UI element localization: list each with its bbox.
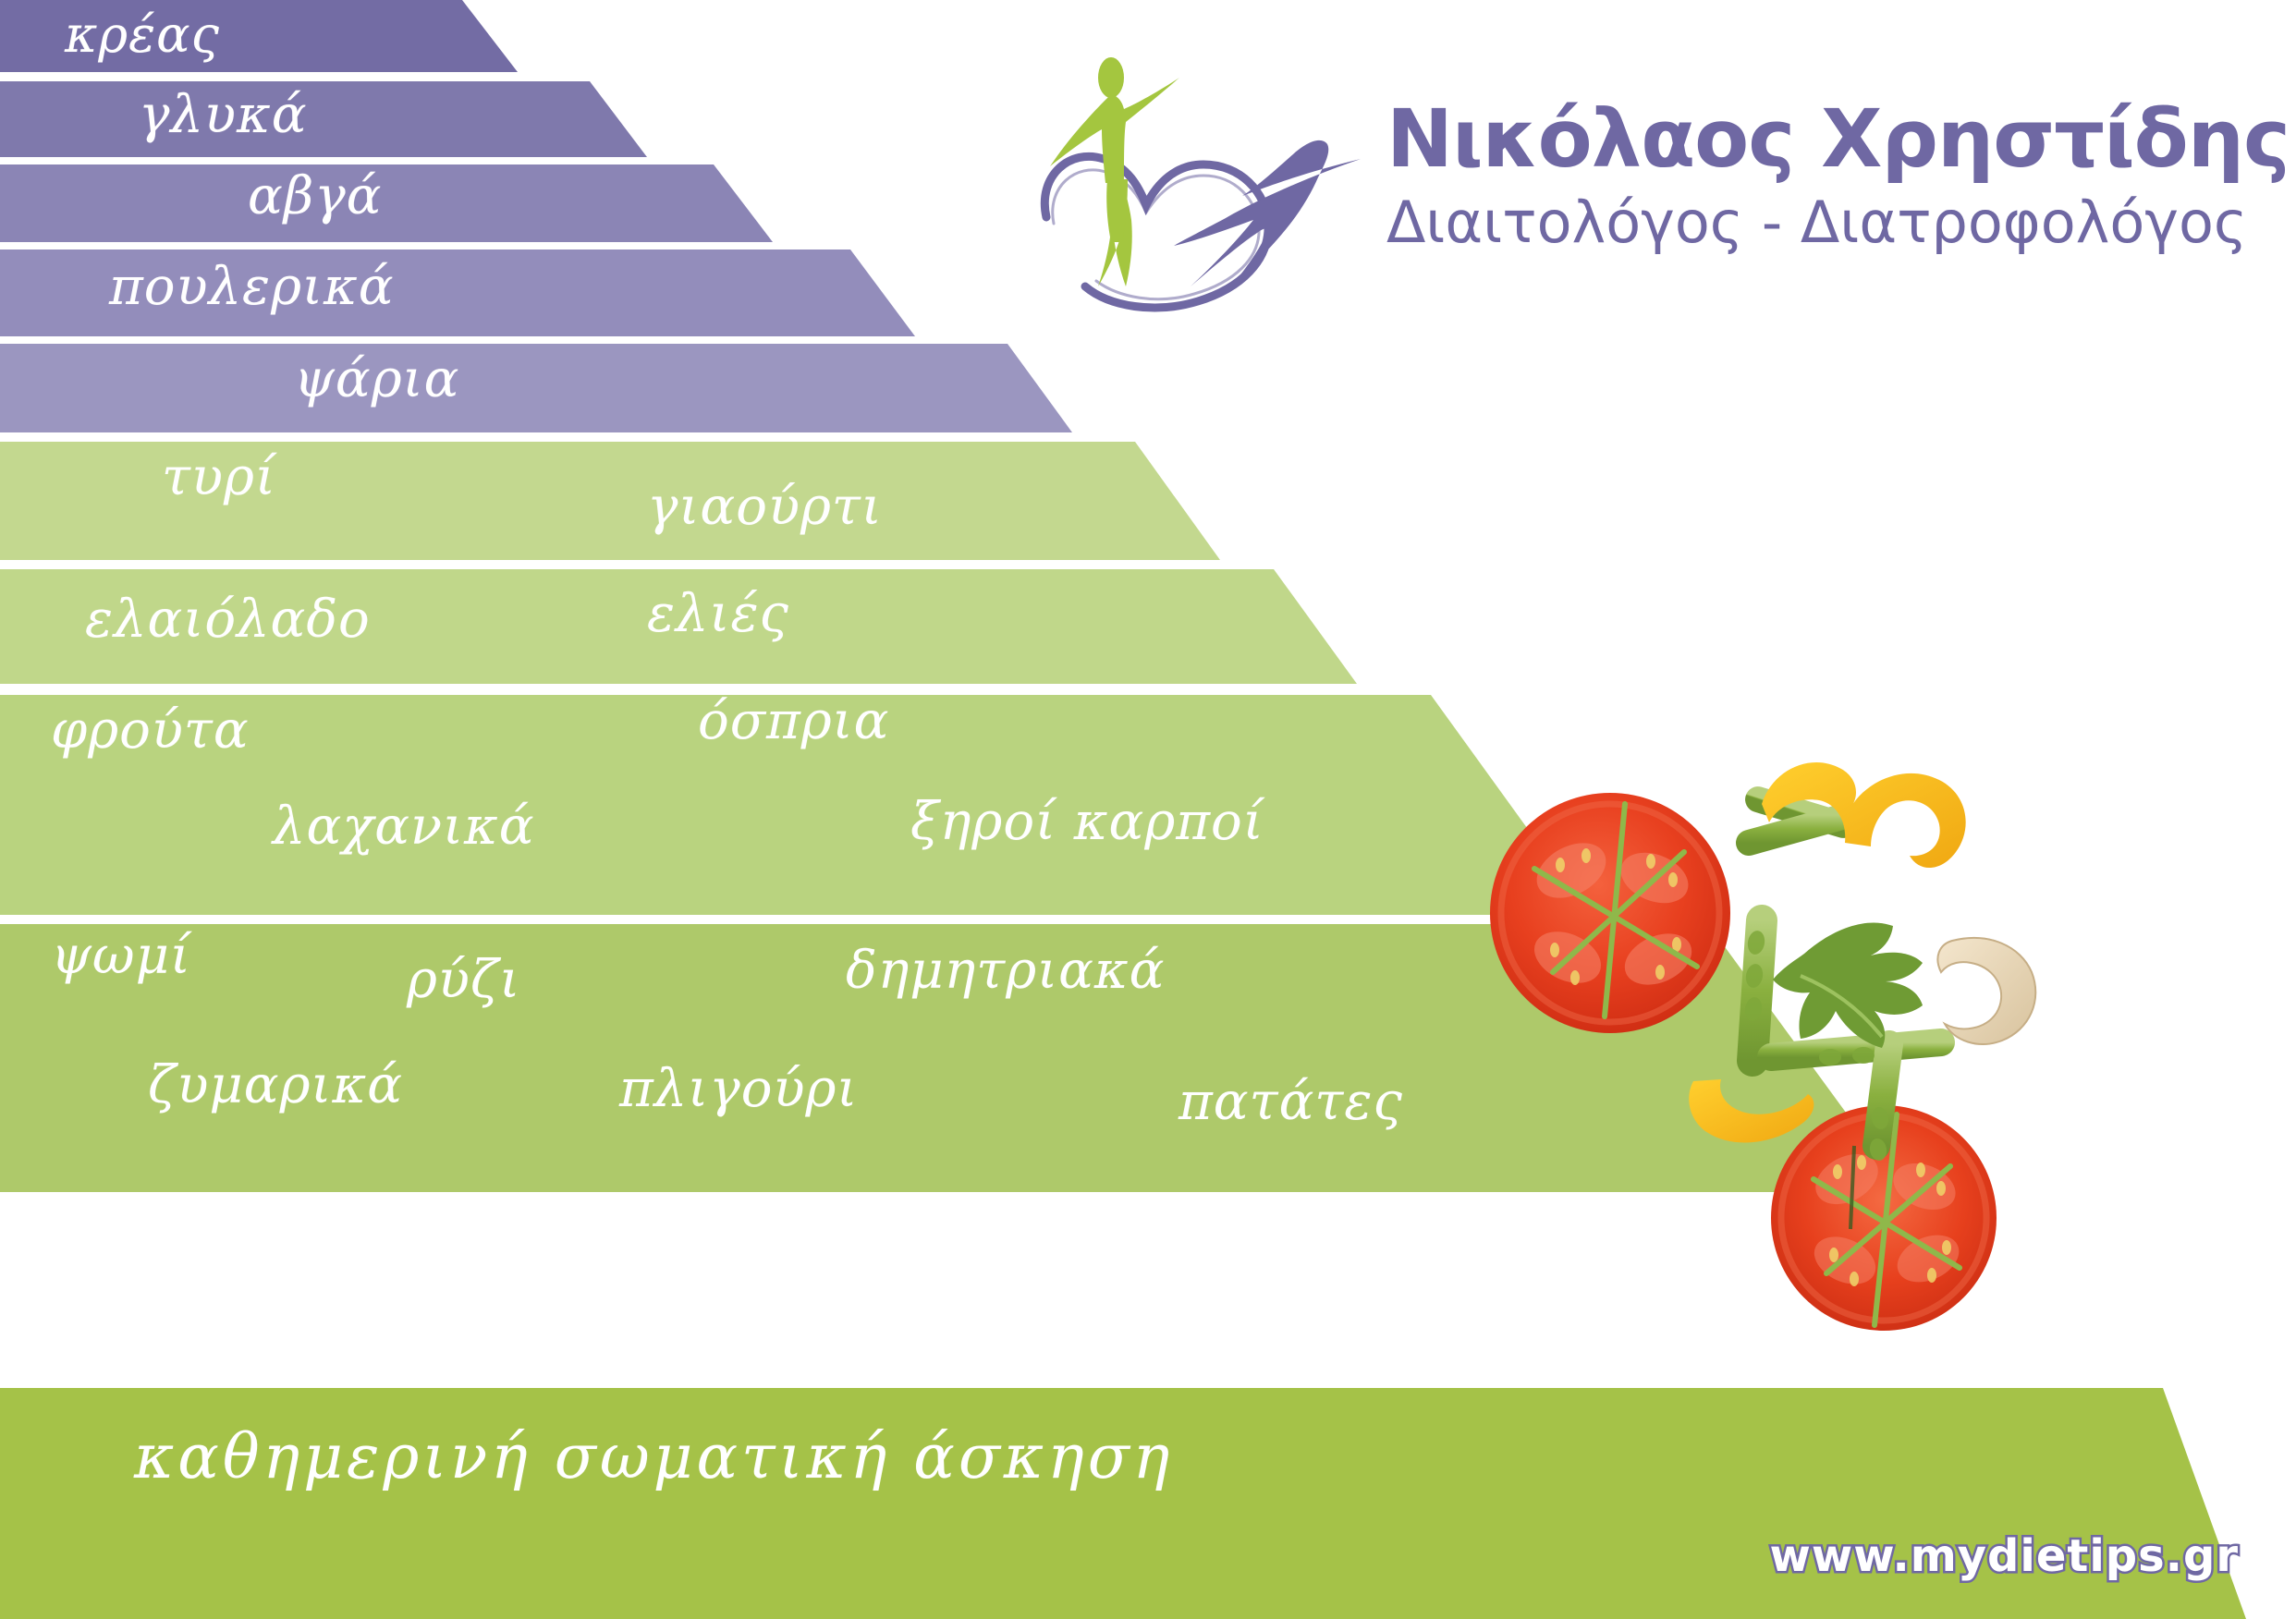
pyramid-level-fruit-legumes: φρούτα όσπρια λαχανικά ξηροί καρποί <box>0 695 1590 915</box>
brand-subtitle: Διαιτολόγος - Διατροφολόγος <box>1386 194 2265 251</box>
pyramid-base-exercise: καθημερινή σωματική άσκηση <box>0 1388 2296 1619</box>
band-shape <box>0 81 647 157</box>
pyramid-label: πουλερικά <box>109 257 395 317</box>
pyramid-level-poultry: πουλερικά <box>0 250 915 336</box>
pyramid-label: ρύζι <box>407 950 520 1010</box>
band-shape <box>0 164 773 242</box>
brand-text-block: Νικόλαος Χρηστίδης Διαιτολόγος - Διατροφ… <box>1386 100 2265 251</box>
pyramid-label: κρέας <box>65 6 220 64</box>
band-shape <box>0 344 1072 432</box>
arugula-leaf <box>1773 923 1923 1048</box>
brand-block: Νικόλαος Χρηστίδης Διαιτολόγος - Διατροφ… <box>1035 55 2274 333</box>
pyramid-level-dairy: τυρί γιαούρτι <box>0 442 1220 560</box>
pyramid-label: πλιγούρι <box>619 1059 858 1119</box>
pyramid-level-fish: ψάρια <box>0 344 1072 432</box>
pyramid-label: ζυμαρικά <box>148 1055 403 1115</box>
pyramid-level-eggs: αβγά <box>0 164 773 242</box>
yellow-pepper-pedal <box>1689 1079 1814 1142</box>
exercise-label: καθημερινή σωματική άσκηση <box>134 1421 1173 1492</box>
pyramid-label: λαχανικά <box>273 797 535 857</box>
pyramid-label: όσπρια <box>698 691 889 751</box>
pyramid-label: ψωμί <box>51 926 191 986</box>
poster-canvas: κρέας γλυκά αβγά πουλερικά ψάρια τυρί γι… <box>0 0 2296 1619</box>
logo-artwork <box>1035 55 1368 323</box>
brand-name: Νικόλαος Χρηστίδης <box>1386 100 2265 179</box>
website-url[interactable]: www.mydietips.gr <box>1770 1530 2239 1582</box>
green-person-icon <box>1050 57 1179 286</box>
pyramid-label: ελιές <box>647 584 789 644</box>
pyramid-label: φρούτα <box>51 700 250 761</box>
pyramid-label: ελαιόλαδο <box>85 590 371 650</box>
pyramid-label: γλυκά <box>139 85 308 145</box>
pyramid-label: ξηροί καρποί <box>910 792 1264 852</box>
pyramid-level-meat: κρέας <box>0 0 518 72</box>
pyramid-label: ψάρια <box>294 349 459 409</box>
pyramid-label: τυρί <box>162 447 276 507</box>
tomato-slice-wheel <box>1490 793 1730 1033</box>
vegetable-bicycle-artwork <box>1479 712 2144 1377</box>
mydietips-logo <box>1035 55 1368 323</box>
cashew-saddle <box>1937 938 2035 1044</box>
pyramid-label: δημητριακά <box>846 941 1165 1001</box>
pyramid-label: πατάτες <box>1179 1072 1403 1132</box>
pyramid-level-sweets: γλυκά <box>0 81 647 157</box>
vegetable-bicycle <box>1479 712 2144 1377</box>
pyramid-label: αβγά <box>248 166 382 226</box>
heart-sketch-icon <box>1044 156 1268 308</box>
pyramid-level-olive-oil: ελαιόλαδο ελιές <box>0 569 1357 684</box>
pyramid-label: γιαούρτι <box>647 477 883 537</box>
